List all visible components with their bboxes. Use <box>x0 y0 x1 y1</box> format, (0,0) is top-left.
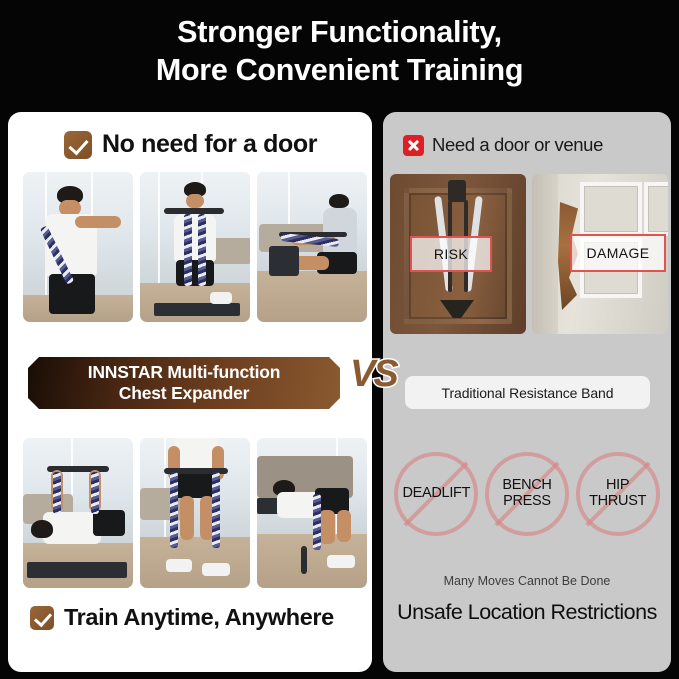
right-panel-sub-note: Many Moves Cannot Be Done <box>383 574 671 588</box>
banned-exercises-row: DEADLIFT BENCH PRESS HIP THRUST <box>391 452 663 536</box>
page-title-line-1: Stronger Functionality, <box>0 14 679 52</box>
banned-exercise-bench-press: BENCH PRESS <box>485 452 569 536</box>
page-title-line-2: More Convenient Training <box>0 52 679 90</box>
left-comparison-panel: No need for a door <box>8 112 372 672</box>
damage-tag-label: DAMAGE <box>586 245 649 261</box>
page-title: Stronger Functionality, More Convenient … <box>0 14 679 89</box>
photo-floor-bench-press <box>23 438 133 588</box>
competitor-label-text: Traditional Resistance Band <box>442 385 614 401</box>
right-panel-header-label: Need a door or venue <box>432 134 603 156</box>
banned-exercise-label: DEADLIFT <box>402 486 470 502</box>
photo-hip-thrust <box>257 438 367 588</box>
photo-standing-chest-press <box>23 172 133 322</box>
photo-seated-row <box>257 172 367 322</box>
banned-exercise-label: BENCH PRESS <box>502 478 551 509</box>
checkbox-checked-icon <box>30 606 54 630</box>
right-panel-header: Need a door or venue <box>403 134 603 156</box>
risk-tag-label: RISK <box>434 246 468 262</box>
photo-damaged-door-frame: DAMAGE <box>532 174 668 334</box>
right-panel-big-note: Unsafe Location Restrictions <box>383 600 671 625</box>
door-photo-row: RISK DAMAGE <box>390 174 668 334</box>
left-panel-header-label: No need for a door <box>102 130 317 159</box>
risk-tag: RISK <box>410 236 492 272</box>
banned-exercise-label: HIP THRUST <box>589 478 646 509</box>
product-banner-line-1: INNSTAR Multi-function <box>88 362 281 383</box>
versus-badge: VS <box>350 355 397 393</box>
banned-exercise-hip-thrust: HIP THRUST <box>576 452 660 536</box>
right-comparison-panel: Need a door or venue RISK <box>383 112 671 672</box>
photo-standing-squat-pull <box>140 438 250 588</box>
left-bottom-photo-row <box>23 438 367 588</box>
left-panel-header: No need for a door <box>64 130 317 159</box>
banned-exercise-deadlift: DEADLIFT <box>394 452 478 536</box>
photo-wooden-door-anchor: RISK <box>390 174 526 334</box>
damage-tag: DAMAGE <box>570 234 666 272</box>
left-top-photo-row <box>23 172 367 322</box>
product-name-banner: INNSTAR Multi-function Chest Expander <box>28 357 340 409</box>
infographic-root: Stronger Functionality, More Convenient … <box>0 0 679 679</box>
product-banner-line-2: Chest Expander <box>119 383 249 404</box>
checkbox-checked-icon <box>64 131 92 159</box>
photo-kneeling-lat-pulldown <box>140 172 250 322</box>
left-panel-footer: Train Anytime, Anywhere <box>30 604 334 631</box>
x-mark-icon <box>403 135 424 156</box>
competitor-label-pill: Traditional Resistance Band <box>405 376 650 409</box>
left-panel-footer-label: Train Anytime, Anywhere <box>64 604 334 631</box>
